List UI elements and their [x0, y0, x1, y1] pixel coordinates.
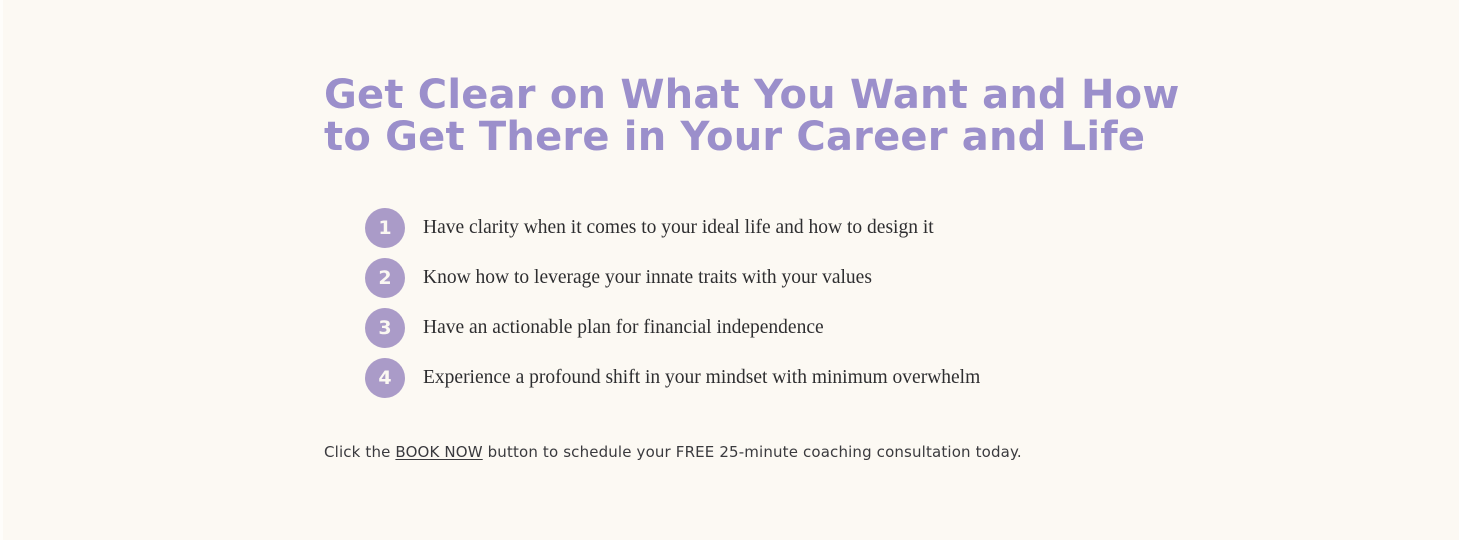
number-badge-1: 1	[365, 208, 405, 248]
list-item: 2 Know how to leverage your innate trait…	[365, 258, 1365, 298]
page-title: Get Clear on What You Want and How to Ge…	[324, 74, 1144, 158]
benefit-text-2: Know how to leverage your innate traits …	[423, 266, 1365, 290]
number-badge-2: 2	[365, 258, 405, 298]
number-badge-4: 4	[365, 358, 405, 398]
landing-section: Get Clear on What You Want and How to Ge…	[0, 0, 1459, 540]
benefit-text-3: Have an actionable plan for financial in…	[423, 316, 1365, 340]
benefit-text-1: Have clarity when it comes to your ideal…	[423, 216, 1365, 240]
content-column: Get Clear on What You Want and How to Ge…	[324, 0, 1424, 540]
list-item: 4 Experience a profound shift in your mi…	[365, 358, 1365, 398]
benefits-list: 1 Have clarity when it comes to your ide…	[365, 208, 1365, 408]
page-title-line-2: to Get There in Your Career and Life	[324, 116, 1144, 158]
book-now-link[interactable]: BOOK NOW	[395, 443, 482, 461]
number-badge-3: 3	[365, 308, 405, 348]
cta-text: Click the BOOK NOW button to schedule yo…	[324, 442, 1022, 462]
benefit-text-4: Experience a profound shift in your mind…	[423, 366, 1365, 390]
list-item: 1 Have clarity when it comes to your ide…	[365, 208, 1365, 248]
left-edge-strip	[0, 0, 3, 540]
cta-suffix: button to schedule your FREE 25-minute c…	[483, 443, 1022, 461]
list-item: 3 Have an actionable plan for financial …	[365, 308, 1365, 348]
cta-prefix: Click the	[324, 443, 395, 461]
page-title-line-1: Get Clear on What You Want and How	[324, 74, 1144, 116]
